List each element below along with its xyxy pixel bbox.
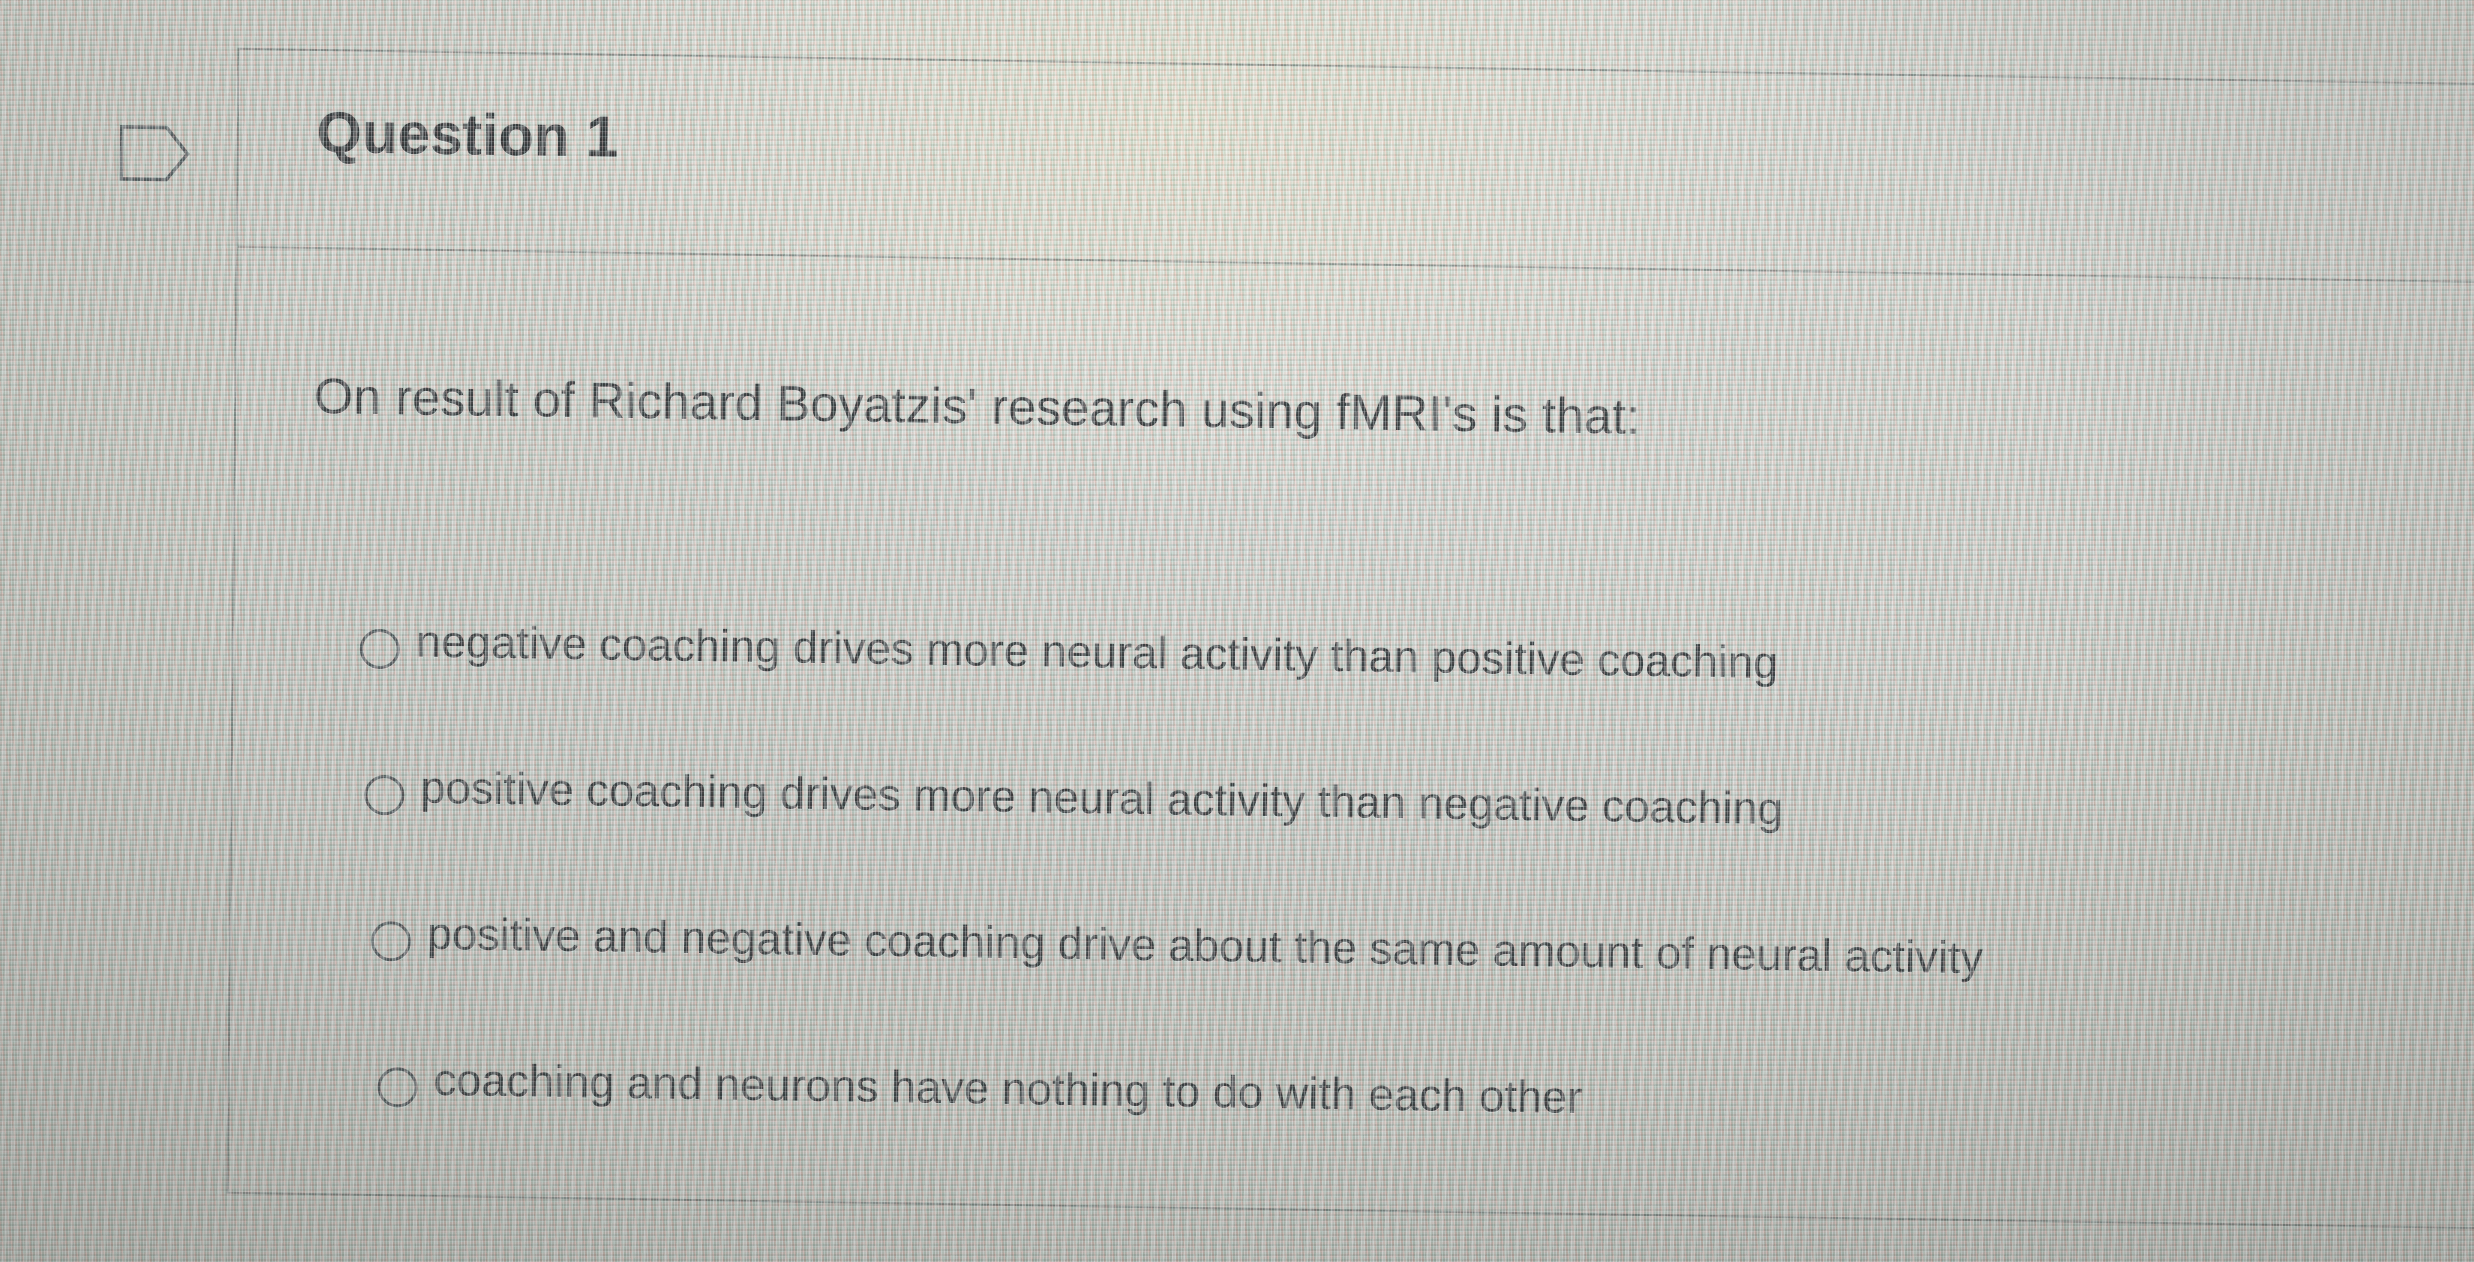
pentagon-flag-icon xyxy=(118,124,191,183)
page-title: Question 1 xyxy=(316,99,618,171)
radio-unselected-icon[interactable] xyxy=(360,629,400,670)
answer-option-label: positive coaching drives more neural act… xyxy=(420,762,1783,835)
answer-option-label: coaching and neurons have nothing to do … xyxy=(433,1054,1582,1124)
screen-content-plane: Question 1 On result of Richard Boyatzis… xyxy=(0,0,2474,1262)
answer-option-label: positive and negative coaching drive abo… xyxy=(427,908,1983,984)
photographed-screen-surface: Question 1 On result of Richard Boyatzis… xyxy=(0,0,2474,1262)
answer-options-list: negative coaching drives more neural act… xyxy=(229,578,2474,1199)
question-prompt: On result of Richard Boyatzis' research … xyxy=(314,367,1641,446)
radio-unselected-icon[interactable] xyxy=(371,921,411,962)
radio-unselected-icon[interactable] xyxy=(377,1067,417,1108)
radio-unselected-icon[interactable] xyxy=(364,775,404,816)
question-header: Question 1 xyxy=(238,50,2474,285)
answer-option-label: negative coaching drives more neural act… xyxy=(416,616,1779,689)
question-card: Question 1 On result of Richard Boyatzis… xyxy=(227,48,2474,1231)
